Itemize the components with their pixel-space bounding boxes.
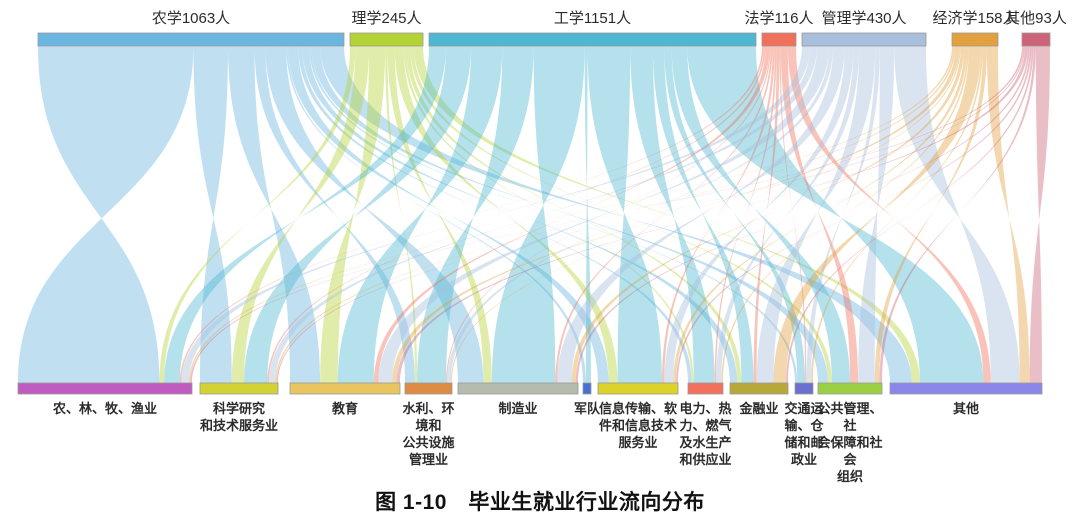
target-node-label-line: 农、林、牧、渔业: [14, 400, 196, 417]
figure-caption: 图 1-10 毕业生就业行业流向分布: [0, 486, 1080, 516]
target-node-label-line: 教育: [286, 400, 404, 417]
target-node-label-line: 公共管理、社: [814, 400, 886, 434]
target-node-label-line: 件和信息技术: [594, 417, 682, 434]
target-node-label: 公共管理、社会保障和社会组织: [814, 400, 886, 485]
target-node-label-line: 电力、热: [680, 400, 732, 417]
target-node-label: 水利、环境和公共设施管理业: [401, 400, 456, 468]
target-node-label: 电力、热力、燃气及水生产和供应业: [680, 400, 732, 468]
target-node-label-line: 服务业: [594, 434, 682, 451]
target-node-labels: 农、林、牧、渔业科学研究和技术服务业教育水利、环境和公共设施管理业制造业军队信息…: [0, 0, 1080, 470]
target-node-label-line: 信息传输、软: [594, 400, 682, 417]
sankey-figure: 农学1063人理学245人工学1151人法学116人管理学430人经济学158人…: [0, 0, 1080, 528]
target-node-label-line: 科学研究: [196, 400, 282, 417]
target-node-label: 农、林、牧、渔业: [14, 400, 196, 417]
target-node-label-line: 和供应业: [680, 451, 732, 468]
target-node-label: 其他: [886, 400, 1046, 417]
target-node-label-line: 水利、环境和: [401, 400, 456, 434]
target-node-label-line: 其他: [886, 400, 1046, 417]
target-node-label-line: 及水生产: [680, 434, 732, 451]
target-node-label-line: 公共设施管理业: [401, 434, 456, 468]
target-node-label: 教育: [286, 400, 404, 417]
target-node-label-line: 组织: [814, 468, 886, 485]
target-node-label-line: 和技术服务业: [196, 417, 282, 434]
target-node-label: 信息传输、软件和信息技术服务业: [594, 400, 682, 451]
target-node-label: 科学研究和技术服务业: [196, 400, 282, 434]
target-node-label-line: 会保障和社会: [814, 434, 886, 468]
target-node-label-line: 力、燃气: [680, 417, 732, 434]
